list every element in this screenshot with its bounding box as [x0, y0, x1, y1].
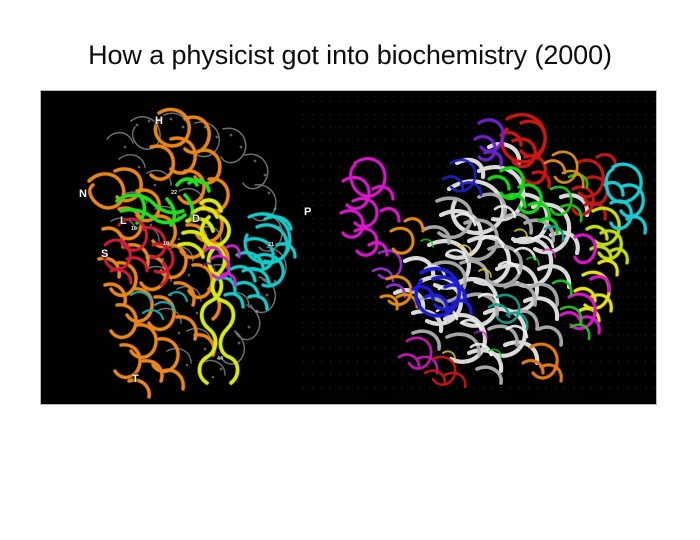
- figure-panel: H N L S D P T 16 18 44 22 21: [40, 90, 657, 405]
- left-molecular-structure: H N L S D P T 16 18 44 22 21: [59, 99, 329, 399]
- structure-label-t: T: [132, 374, 139, 385]
- figure-panel-inner: H N L S D P T 16 18 44 22 21: [41, 91, 656, 404]
- right-structure-svg: [329, 101, 649, 397]
- left-structure-svg: [59, 99, 329, 399]
- page-title: How a physicist got into biochemistry (2…: [0, 38, 700, 72]
- residue-number: 22: [171, 191, 177, 197]
- right-molecular-structure: [329, 101, 649, 397]
- residue-number: 21: [268, 243, 274, 249]
- structure-label-s: S: [101, 249, 108, 260]
- structure-label-l: L: [120, 216, 127, 227]
- structure-label-d: D: [192, 214, 200, 225]
- structure-label-p: P: [304, 207, 311, 218]
- structure-label-h: H: [155, 116, 163, 127]
- residue-number: 16: [131, 227, 137, 233]
- slide-canvas: How a physicist got into biochemistry (2…: [0, 0, 700, 540]
- residue-number: 18: [163, 242, 169, 248]
- residue-number: 44: [217, 357, 223, 363]
- structure-label-n: N: [79, 189, 87, 200]
